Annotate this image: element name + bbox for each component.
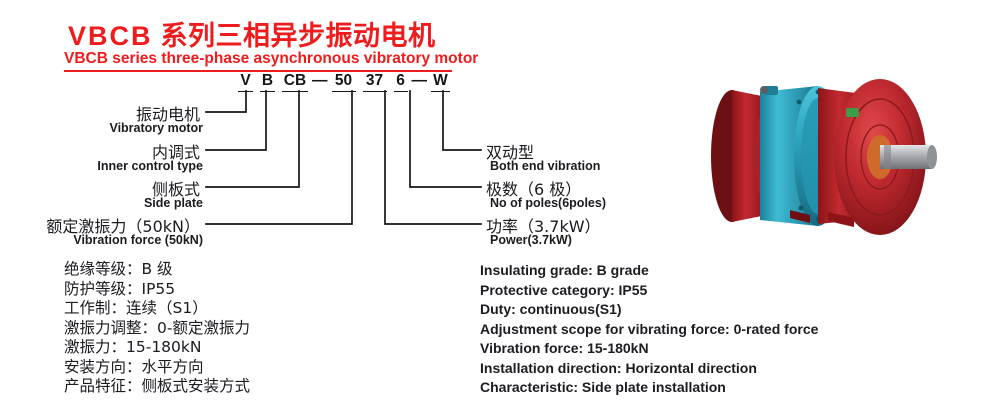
- breakdown-left-label-en-3: Side plate: [144, 196, 203, 210]
- breakdown-left-label-en-4: Vibration force (50kN): [73, 233, 203, 247]
- spec-cn-item-2: 防护等级：IP55: [64, 280, 250, 300]
- breakdown-right-label-en-3: Power(3.7kW): [490, 233, 572, 247]
- leader-left-3: [206, 91, 299, 187]
- leader-left-2: [206, 91, 266, 150]
- spec-cn-item-3: 工作制：连续（S1）: [64, 299, 250, 319]
- spec-cn-item-6: 安装方向：水平方向: [64, 358, 250, 378]
- spec-en-item-6: Installation direction: Horizontal direc…: [480, 359, 818, 379]
- spec-en-item-7: Characteristic: Side plate installation: [480, 378, 818, 398]
- leader-left-1: [206, 91, 246, 112]
- spec-en-item-2: Protective category: IP55: [480, 281, 818, 301]
- spec-list-cn: 绝缘等级：B 级 防护等级：IP55 工作制：连续（S1） 激振力调整：0-额定…: [64, 260, 250, 397]
- spec-en-item-3: Duty: continuous(S1): [480, 300, 818, 320]
- spec-cn-item-5: 激振力：15-180kN: [64, 338, 250, 358]
- spec-en-item-1: Insulating grade: B grade: [480, 261, 818, 281]
- leader-right-2: [410, 91, 481, 187]
- spec-cn-item-7: 产品特征：侧板式安装方式: [64, 377, 250, 397]
- product-spec-sheet: VBCB 系列三相异步振动电机 VBCB series three-phase …: [0, 0, 1000, 415]
- breakdown-left-label-en-2: Inner control type: [97, 159, 203, 173]
- breakdown-right-label-en-1: Both end vibration: [490, 159, 600, 173]
- product-photo: [668, 62, 986, 252]
- breakdown-right-label-en-2: No of poles(6poles): [490, 196, 606, 210]
- breakdown-left-label-en-1: Vibratory motor: [109, 121, 203, 135]
- leader-right-3: [385, 91, 481, 224]
- spec-list-en: Insulating grade: B grade Protective cat…: [480, 261, 818, 398]
- spec-en-item-5: Vibration force: 15-180kN: [480, 339, 818, 359]
- spec-en-item-4: Adjustment scope for vibrating force: 0-…: [480, 320, 818, 340]
- spec-cn-item-4: 激振力调整：0-额定激振力: [64, 319, 250, 339]
- leader-left-4: [206, 91, 352, 224]
- spec-cn-item-1: 绝缘等级：B 级: [64, 260, 250, 280]
- leader-right-1: [443, 91, 481, 150]
